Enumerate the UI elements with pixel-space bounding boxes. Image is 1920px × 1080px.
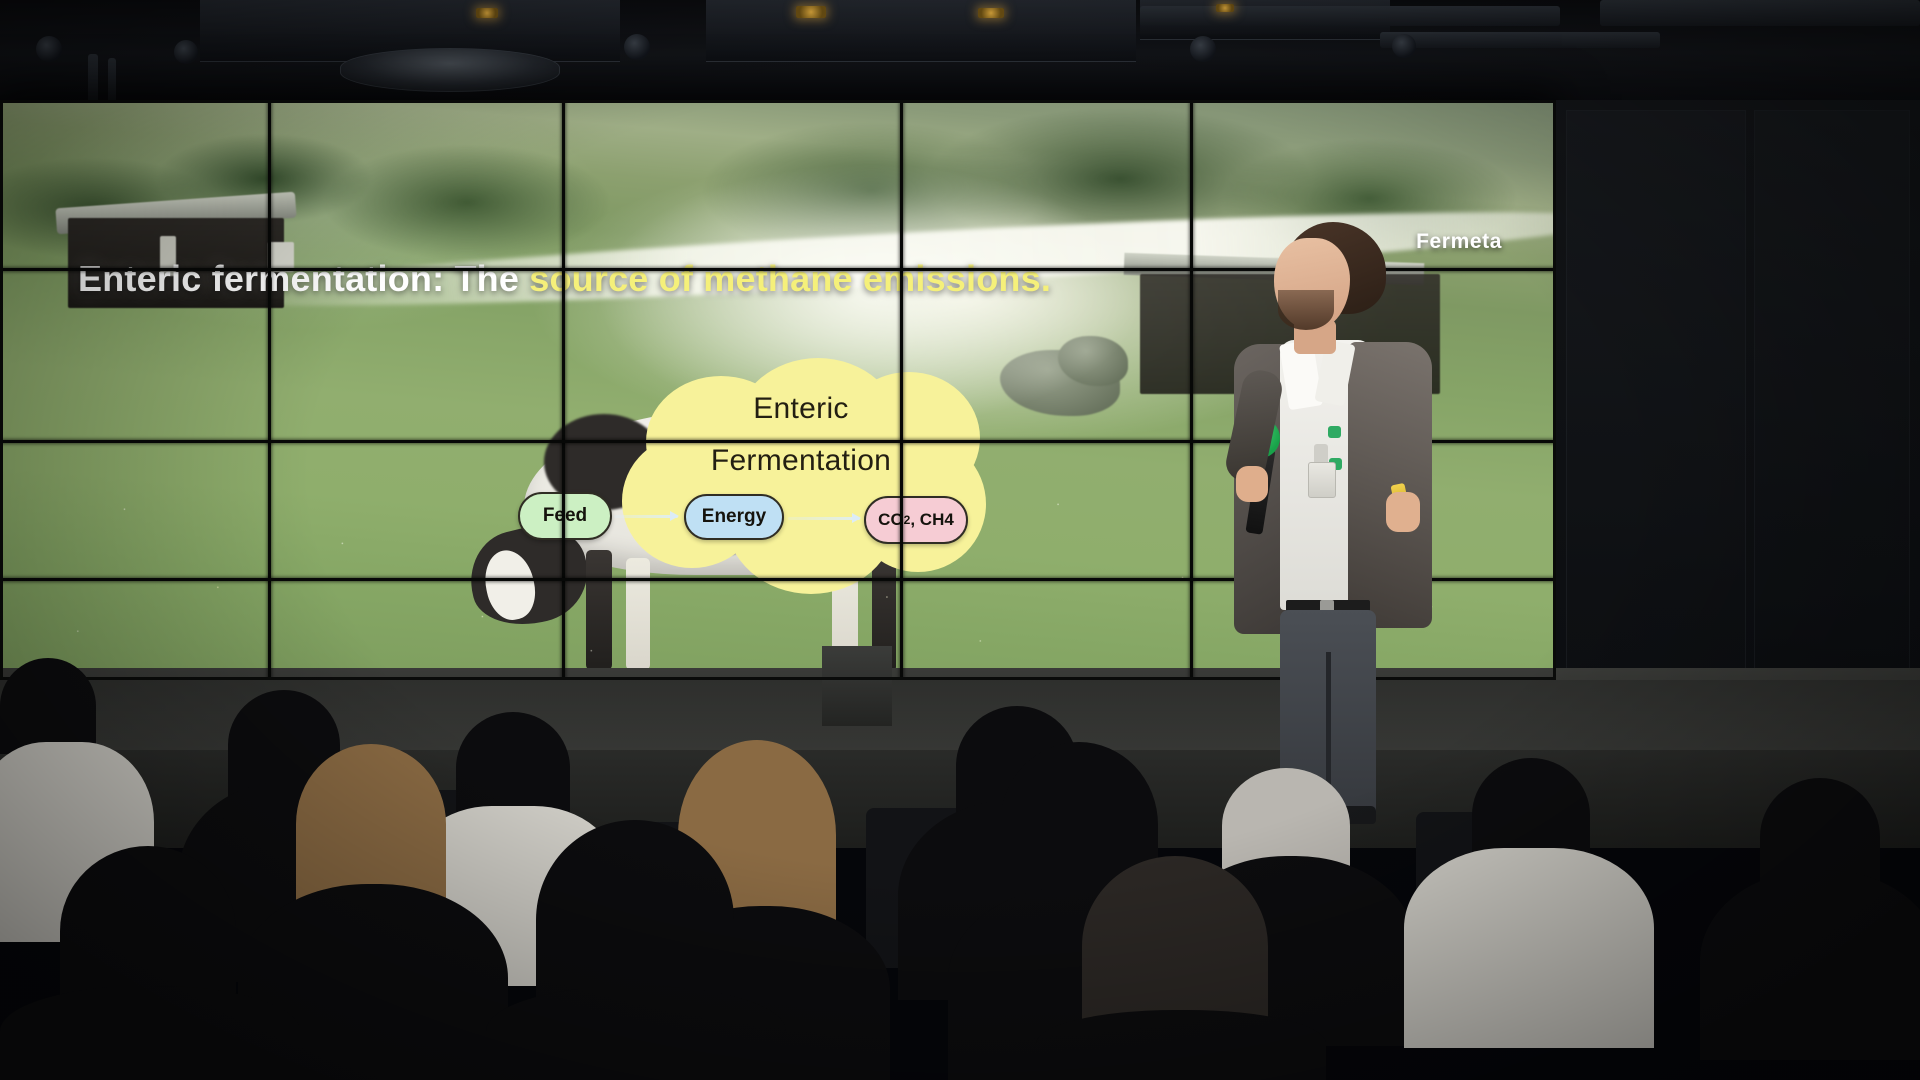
spotlight [36, 36, 62, 62]
cloud-label-line2: Fermentation [616, 444, 986, 478]
amber-indicator-light [978, 8, 1004, 18]
spotlight [1190, 36, 1216, 62]
enteric-fermentation-cloud: Enteric Fermentation [616, 358, 986, 608]
audience-head-blonde [296, 744, 446, 904]
flow-node-energy-label: Energy [702, 506, 766, 528]
hand-right [1386, 492, 1420, 532]
audience-shoulders [1700, 870, 1920, 1060]
audience-shoulders [1404, 848, 1654, 1048]
wall-bezel-vertical [268, 100, 271, 680]
spotlight [174, 40, 198, 64]
slide-title-highlight: source of methane emissions. [529, 258, 1051, 299]
audience-head-lit [1082, 856, 1268, 1036]
hand-left [1236, 466, 1268, 502]
cloud-label-line1: Enteric [616, 392, 986, 426]
flow-node-emissions-tail: , CH4 [910, 510, 953, 530]
jacket-right-panel [1348, 342, 1432, 628]
wall-bezel-vertical [900, 100, 903, 680]
ceiling-duct [1600, 0, 1920, 26]
spotlight [624, 34, 650, 60]
wall-panel [1566, 110, 1746, 670]
hanging-pole [88, 54, 98, 106]
slide-title-plain: Enteric fermentation: The [78, 258, 529, 299]
flow-node-emissions[interactable]: CO2, CH4 [864, 496, 968, 544]
amber-indicator-light [476, 8, 498, 18]
wall-panel [1754, 110, 1910, 670]
audience-shoulders [1036, 1010, 1326, 1080]
flow-node-feed[interactable]: Feed [518, 492, 612, 540]
lapel-pin-icon [1328, 426, 1341, 438]
audience-shoulders [486, 986, 786, 1080]
audience-head [0, 658, 96, 754]
flow-node-emissions-subscript: 2 [904, 513, 911, 527]
wall-bezel-vertical [562, 100, 565, 680]
arrow-feed-to-energy [614, 515, 678, 518]
speaker-presenter [1228, 222, 1458, 802]
audience-shoulders [0, 986, 300, 1080]
beard [1278, 290, 1334, 330]
stage-right-wall [1556, 100, 1920, 680]
stage-riser-block [822, 646, 892, 726]
badge [1308, 462, 1336, 498]
hanging-pole [108, 58, 116, 106]
arrow-energy-to-output [788, 517, 860, 520]
truss-beam [706, 0, 1136, 62]
amber-indicator-light [796, 6, 826, 18]
ceiling-dish-light [340, 48, 560, 92]
amber-indicator-light [1216, 4, 1234, 12]
flow-node-energy[interactable]: Energy [684, 494, 784, 540]
presentation-scene: Enteric fermentation: The source of meth… [0, 0, 1920, 1080]
spotlight [1392, 34, 1416, 58]
ceiling-duct [1140, 6, 1560, 26]
ceiling-duct [1380, 32, 1660, 48]
wall-bezel-vertical [1190, 100, 1193, 680]
